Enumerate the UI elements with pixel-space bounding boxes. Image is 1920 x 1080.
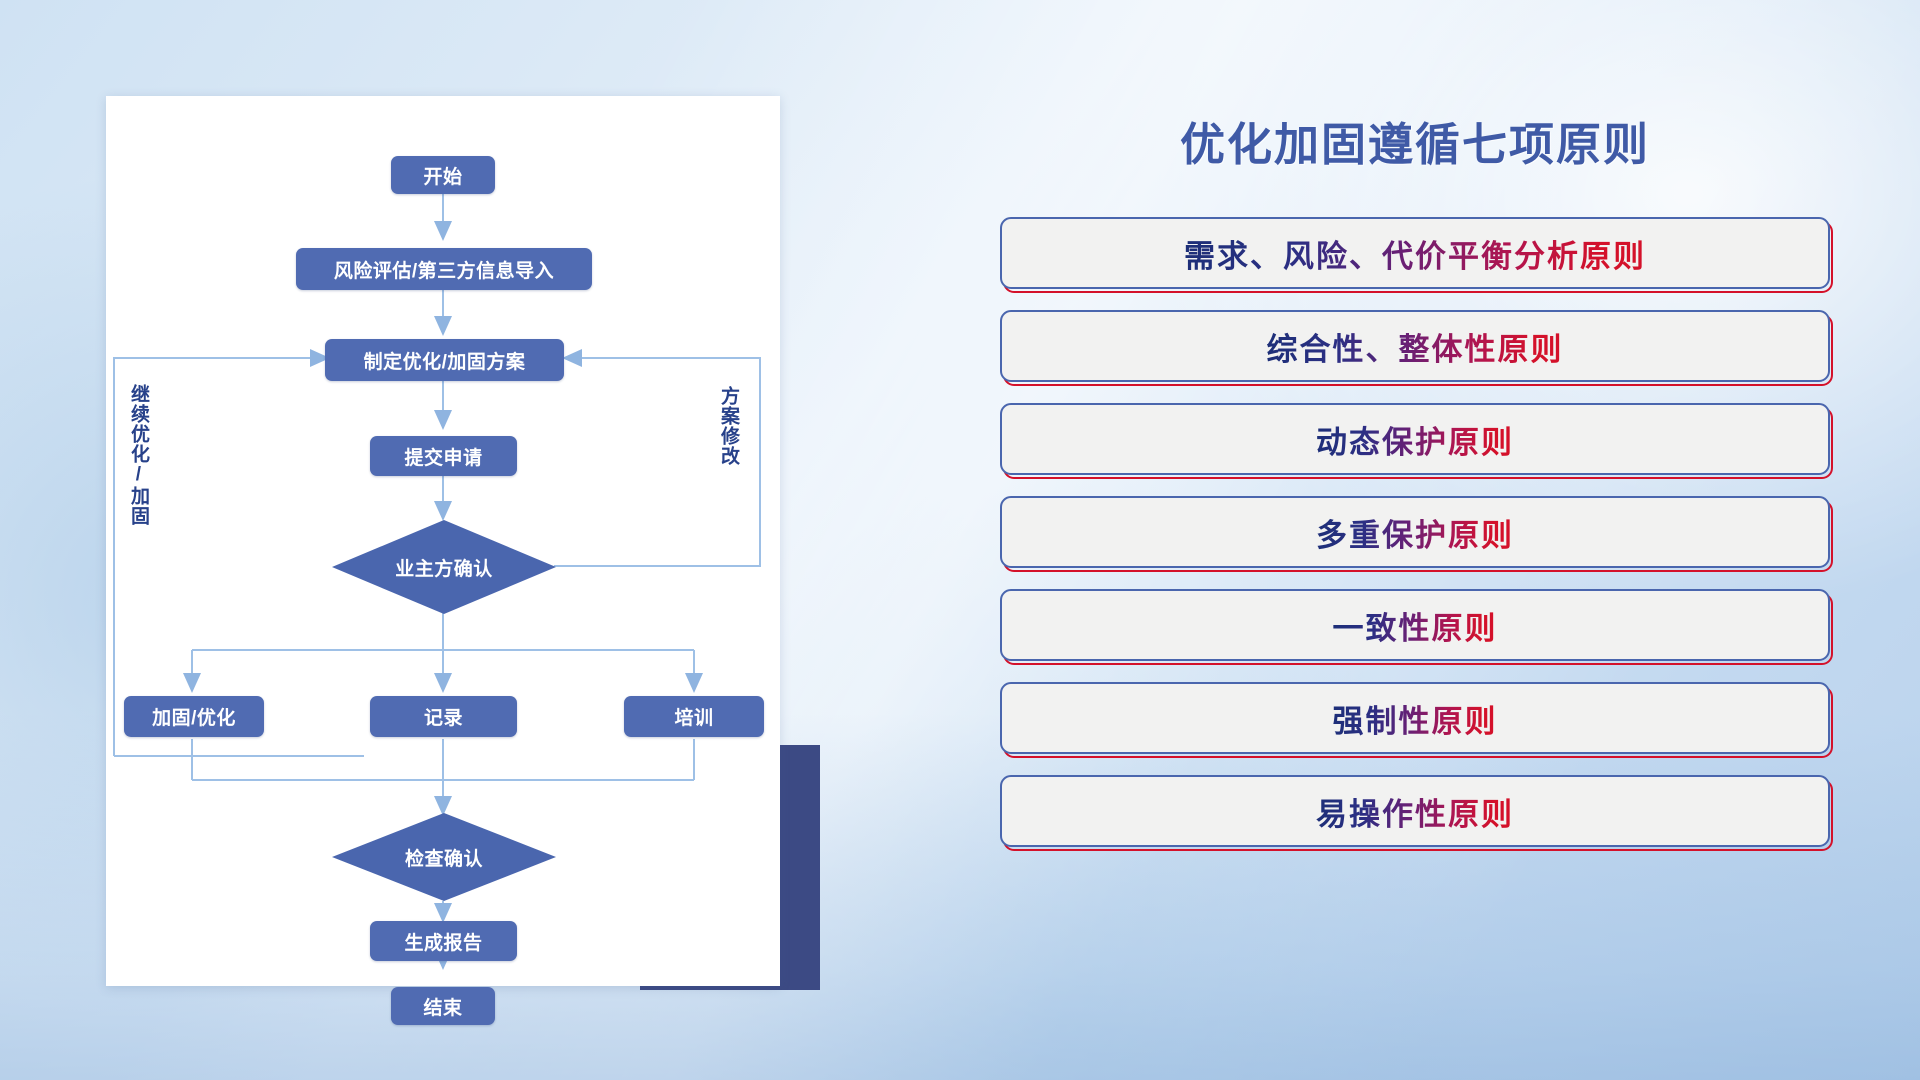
flow-node-reinforce[interactable]: 加固/优化 (124, 696, 264, 737)
flow-decision-check-confirm-label: 检查确认 (405, 844, 483, 871)
flow-node-submit[interactable]: 提交申请 (370, 436, 517, 476)
principle-item[interactable]: 易操作性原则 (1000, 775, 1830, 847)
principle-body: 需求、风险、代价平衡分析原则 (1000, 217, 1830, 289)
principle-item[interactable]: 动态保护原则 (1000, 403, 1830, 475)
flow-node-end[interactable]: 结束 (391, 987, 495, 1025)
flow-node-risk-assess[interactable]: 风险评估/第三方信息导入 (296, 248, 592, 290)
principle-body: 一致性原则 (1000, 589, 1830, 661)
flow-node-start-label: 开始 (423, 162, 462, 189)
principle-label: 动态保护原则 (1316, 417, 1514, 462)
principle-item[interactable]: 一致性原则 (1000, 589, 1830, 661)
principle-label: 多重保护原则 (1316, 510, 1514, 555)
flow-edge-label-right-loop: 方案修改 (718, 386, 738, 466)
principle-item[interactable]: 强制性原则 (1000, 682, 1830, 754)
flow-node-reinforce-label: 加固/优化 (152, 703, 236, 730)
flow-node-record-label: 记录 (424, 703, 463, 730)
flow-node-start[interactable]: 开始 (391, 156, 495, 194)
flow-decision-owner-confirm[interactable]: 业主方确认 (332, 520, 556, 614)
flow-node-report-label: 生成报告 (404, 928, 482, 955)
principle-label: 综合性、整体性原则 (1267, 324, 1564, 369)
flow-node-record[interactable]: 记录 (370, 696, 517, 737)
principle-label: 易操作性原则 (1316, 789, 1514, 834)
flow-node-end-label: 结束 (423, 993, 462, 1020)
principle-item[interactable]: 需求、风险、代价平衡分析原则 (1000, 217, 1830, 289)
slide-root: 开始 风险评估/第三方信息导入 制定优化/加固方案 提交申请 业主方确认 加固/… (0, 0, 1920, 1080)
flow-node-submit-label: 提交申请 (404, 443, 482, 470)
principle-label: 强制性原则 (1333, 696, 1498, 741)
principles-list: 需求、风险、代价平衡分析原则 综合性、整体性原则 动态保护原则 多重保护原则 (1000, 217, 1830, 847)
principle-body: 易操作性原则 (1000, 775, 1830, 847)
principle-body: 动态保护原则 (1000, 403, 1830, 475)
principle-label: 需求、风险、代价平衡分析原则 (1184, 231, 1646, 276)
flow-node-report[interactable]: 生成报告 (370, 921, 517, 961)
principle-item[interactable]: 多重保护原则 (1000, 496, 1830, 568)
page-title: 优化加固遵循七项原则 (1000, 108, 1830, 173)
flow-node-training-label: 培训 (674, 703, 713, 730)
flow-edge-label-left-loop: 继续优化/加固 (128, 384, 148, 526)
principle-item[interactable]: 综合性、整体性原则 (1000, 310, 1830, 382)
principle-body: 强制性原则 (1000, 682, 1830, 754)
flow-node-training[interactable]: 培训 (624, 696, 764, 737)
flow-node-plan-label: 制定优化/加固方案 (364, 347, 526, 374)
flowchart-card: 开始 风险评估/第三方信息导入 制定优化/加固方案 提交申请 业主方确认 加固/… (106, 96, 780, 986)
principle-body: 多重保护原则 (1000, 496, 1830, 568)
principle-label: 一致性原则 (1333, 603, 1498, 648)
flow-decision-owner-confirm-label: 业主方确认 (395, 554, 493, 581)
flow-decision-check-confirm[interactable]: 检查确认 (332, 813, 556, 901)
principles-panel: 优化加固遵循七项原则 需求、风险、代价平衡分析原则 综合性、整体性原则 动态保护… (1000, 96, 1830, 996)
flow-node-plan[interactable]: 制定优化/加固方案 (325, 339, 564, 381)
principle-body: 综合性、整体性原则 (1000, 310, 1830, 382)
flow-node-risk-assess-label: 风险评估/第三方信息导入 (334, 256, 554, 283)
